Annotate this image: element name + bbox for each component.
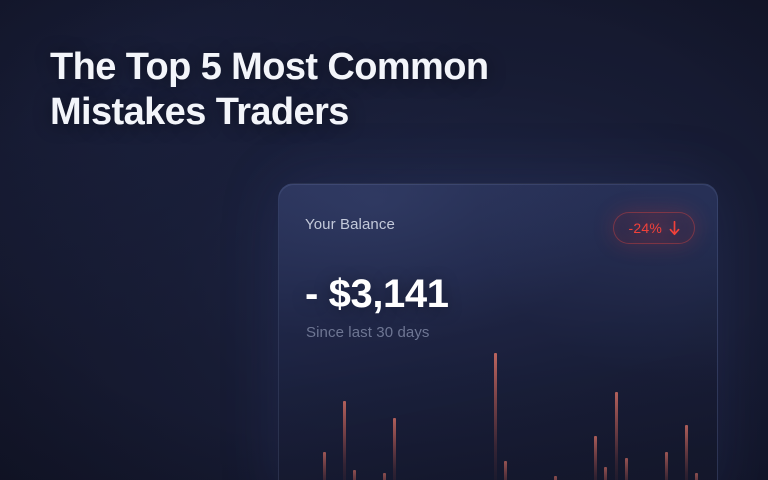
bar-slot [615, 353, 625, 480]
bar-slot [454, 353, 464, 480]
bar-slot [584, 353, 594, 480]
bar-slot [564, 353, 574, 480]
bar-slot [434, 353, 444, 480]
bar-slot [635, 353, 645, 480]
bar-slot [645, 353, 655, 480]
card-header: Your Balance -24% [305, 216, 695, 244]
balance-card-title: Your Balance [305, 216, 395, 233]
bar-slot [474, 353, 484, 480]
bar-slot [604, 353, 614, 480]
page-headline: The Top 5 Most Common Mistakes Traders [50, 45, 570, 135]
bar-slot [303, 353, 313, 480]
bar-slot [534, 353, 544, 480]
chart-bar [353, 470, 356, 480]
arrow-down-icon [669, 221, 680, 236]
chart-bar [323, 452, 326, 480]
bar-slot [625, 353, 635, 480]
balance-card: Your Balance -24% - $3,141 Since last 30… [278, 183, 718, 480]
chart-bar [504, 461, 507, 480]
bar-slot [414, 353, 424, 480]
bar-slot [323, 353, 333, 480]
bar-slot [444, 353, 454, 480]
bar-slot [373, 353, 383, 480]
chart-bar [554, 476, 557, 480]
bar-slot [383, 353, 393, 480]
bar-slot [675, 353, 685, 480]
bar-slot [424, 353, 434, 480]
chart-bar [665, 452, 668, 480]
change-percent-label: -24% [629, 220, 662, 236]
chart-bar [494, 353, 497, 480]
bar-slot [504, 353, 514, 480]
bar-slot [685, 353, 695, 480]
chart-bar [383, 473, 386, 480]
bar-slot [574, 353, 584, 480]
chart-bar [594, 436, 597, 480]
chart-bar [343, 401, 346, 480]
bar-slot [363, 353, 373, 480]
bar-slot [333, 353, 343, 480]
bar-slot [554, 353, 564, 480]
balance-subtitle: Since last 30 days [306, 324, 430, 341]
balance-bar-chart [293, 353, 715, 480]
bar-slot [665, 353, 675, 480]
bar-slot [353, 353, 363, 480]
change-badge[interactable]: -24% [613, 212, 695, 244]
chart-bar [604, 467, 607, 480]
bar-slot [524, 353, 534, 480]
bar-slot [494, 353, 504, 480]
bar-slot [464, 353, 474, 480]
bar-slot [393, 353, 403, 480]
bar-slot [705, 353, 715, 480]
chart-bar [393, 418, 396, 480]
bar-slot [695, 353, 705, 480]
chart-bar [625, 458, 628, 480]
bar-slot [594, 353, 604, 480]
chart-bar [615, 392, 618, 480]
balance-amount: - $3,141 [305, 272, 449, 317]
bar-slot [484, 353, 494, 480]
bar-slot [544, 353, 554, 480]
bar-slot [313, 353, 323, 480]
bar-slot [404, 353, 414, 480]
bar-slot [655, 353, 665, 480]
bar-slot [514, 353, 524, 480]
chart-bar [695, 473, 698, 480]
chart-bar [685, 425, 688, 480]
bar-slot [293, 353, 303, 480]
bar-slot [343, 353, 353, 480]
